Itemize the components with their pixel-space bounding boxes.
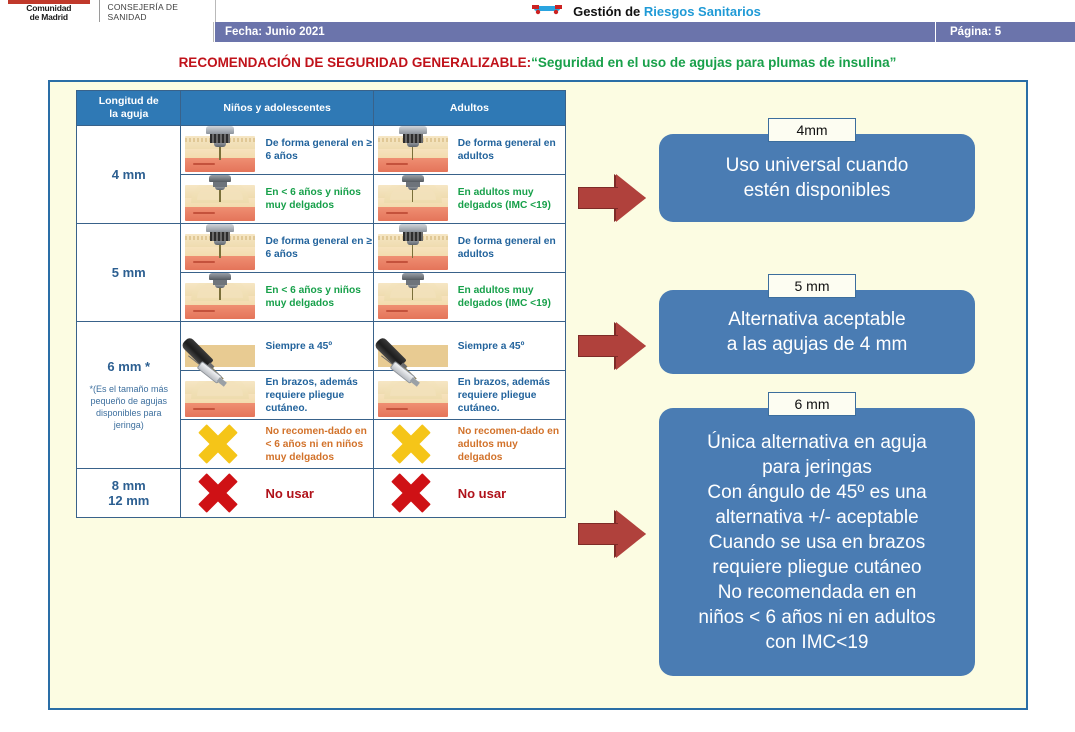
pen-angled-45-icon <box>181 322 259 370</box>
title-main: Gestión de <box>573 4 644 19</box>
needle-length-label-line-2: 12 mm <box>77 493 180 508</box>
content-panel: Longitud de la aguja Niños y adolescente… <box>48 80 1028 710</box>
column-header-line-2: la aguja <box>109 108 148 120</box>
cell-text: No usar <box>265 487 313 500</box>
x-mark-yellow-icon <box>374 420 452 468</box>
syringe-pinch-icon <box>374 371 452 419</box>
organization-block: Gerencia Asistencial de Atención Primari… <box>99 0 215 22</box>
callout-line: alternativa +/- aceptable <box>698 505 935 530</box>
cell-text: En < 6 años y niños muy delgados <box>265 284 372 310</box>
cell-text: No usar <box>458 487 506 500</box>
needle-straight-icon <box>181 224 259 272</box>
logo-line-2: de Madrid <box>8 13 90 22</box>
cell-text: De forma general en ≥ 6 años <box>265 137 372 163</box>
header-title-wrap: Gestión de Riesgos Sanitarios <box>215 0 1075 22</box>
org-line-3: CONSEJERÍA DE SANIDAD <box>108 2 215 22</box>
cell-children-8-12mm-do-not-use: No usar <box>181 469 373 518</box>
slide-title-green: “Seguridad en el uso de agujas para plum… <box>531 55 896 70</box>
callout-tag-6mm: 6 mm <box>768 392 856 416</box>
column-header-children: Niños y adolescentes <box>181 91 373 126</box>
cell-text: En brazos, además requiere pliegue cután… <box>265 376 372 415</box>
cell-text: No recomen-dado en adultos muy delgados <box>458 425 565 464</box>
stretcher-icon <box>530 1 564 22</box>
header-underline <box>0 42 1075 46</box>
header-meta-bar: Fecha: Junio 2021 Página: 5 <box>0 22 1075 42</box>
callout-tag-5mm: 5 mm <box>768 274 856 298</box>
cell-text: De forma general en adultos <box>458 235 565 261</box>
callout-line: niños < 6 años ni en adultos <box>698 605 935 630</box>
pen-angled-45-icon <box>374 322 452 370</box>
table-row: 6 mm * *(Es el tamaño más pequeño de agu… <box>77 322 566 371</box>
x-mark-red-icon <box>374 469 452 517</box>
column-header-line-1: Longitud de <box>99 95 159 107</box>
syringe-pinch-icon <box>181 371 259 419</box>
needle-length-label: 5 mm <box>77 265 180 280</box>
logo-mark: ★ ★ ★ Comunidad de Madrid <box>8 0 90 22</box>
cell-text: En adultos muy delgados (IMC <19) <box>458 284 565 310</box>
cell-adults-5mm-thin: En adultos muy delgados (IMC <19) <box>373 273 565 322</box>
callout-box-5mm: Alternativa aceptable a las agujas de 4 … <box>659 290 975 374</box>
cell-text: En adultos muy delgados (IMC <19) <box>458 186 565 212</box>
needle-pinch-icon <box>374 175 452 223</box>
cell-text: Siempre a 45º <box>265 340 332 353</box>
cell-text: De forma general en adultos <box>458 137 565 163</box>
cell-adults-6mm-arms: En brazos, además requiere pliegue cután… <box>373 371 565 420</box>
callout-line: a las agujas de 4 mm <box>727 332 908 357</box>
arrow-to-callout-6mm <box>578 510 648 558</box>
needle-length-label-line-1: 8 mm <box>77 478 180 493</box>
callout-line: Uso universal cuando <box>726 153 909 178</box>
cell-text: En < 6 años y niños muy delgados <box>265 186 372 212</box>
cell-text: De forma general en ≥ 6 años <box>265 235 372 261</box>
callout-tag-4mm: 4mm <box>768 118 856 142</box>
title-accent: Riesgos Sanitarios <box>644 4 761 19</box>
needle-length-label: 6 mm * <box>77 359 180 374</box>
cell-text: Siempre a 45º <box>458 340 525 353</box>
callout-line: Con ángulo de 45º es una <box>698 480 935 505</box>
cell-children-4mm-thin: En < 6 años y niños muy delgados <box>181 175 373 224</box>
cell-text: En brazos, además requiere pliegue cután… <box>458 376 565 415</box>
document-header: ★ ★ ★ Comunidad de Madrid Gerencia Asist… <box>0 0 1075 46</box>
document-title: Gestión de Riesgos Sanitarios <box>573 4 761 19</box>
cell-adults-4mm-general: De forma general en adultos <box>373 126 565 175</box>
cell-children-4mm-general: De forma general en ≥ 6 años <box>181 126 373 175</box>
x-mark-yellow-icon <box>181 420 259 468</box>
column-header-needle-length: Longitud de la aguja <box>77 91 181 126</box>
cell-adults-6mm-not-recommended: No recomen-dado en adultos muy delgados <box>373 420 565 469</box>
callout-box-4mm: Uso universal cuando estén disponibles <box>659 134 975 222</box>
callout-line: con IMC<19 <box>698 630 935 655</box>
callout-line: No recomendada en en <box>698 580 935 605</box>
needle-pinch-icon <box>181 273 259 321</box>
needle-length-footnote: *(Es el tamaño más pequeño de agujas dis… <box>77 383 180 431</box>
slide-title-red: RECOMENDACIÓN DE SEGURIDAD GENERALIZABLE… <box>179 55 532 70</box>
cell-children-6mm-arms: En brazos, además requiere pliegue cután… <box>181 371 373 420</box>
cell-adults-4mm-thin: En adultos muy delgados (IMC <19) <box>373 175 565 224</box>
header-date: Fecha: Junio 2021 <box>214 22 935 42</box>
needle-straight-icon <box>374 224 452 272</box>
column-header-adults: Adultos <box>373 91 565 126</box>
table-header-row: Longitud de la aguja Niños y adolescente… <box>77 91 566 126</box>
needle-length-cell-6mm: 6 mm * *(Es el tamaño más pequeño de agu… <box>77 322 181 469</box>
callout-line: Única alternativa en aguja <box>698 430 935 455</box>
needle-straight-icon <box>181 126 259 174</box>
cell-children-5mm-thin: En < 6 años y niños muy delgados <box>181 273 373 322</box>
cell-children-6mm-not-recommended: No recomen-dado en < 6 años ni en niños … <box>181 420 373 469</box>
needle-length-cell-4mm: 4 mm <box>77 126 181 224</box>
callout-line: para jeringas <box>698 455 935 480</box>
needle-length-cell-5mm: 5 mm <box>77 224 181 322</box>
callout-line: Alternativa aceptable <box>727 307 908 332</box>
table-row: 5 mm De forma general en ≥ 6 años <box>77 224 566 273</box>
slide-title: RECOMENDACIÓN DE SEGURIDAD GENERALIZABLE… <box>0 50 1075 74</box>
arrow-to-callout-4mm <box>578 174 648 222</box>
needle-straight-icon <box>374 126 452 174</box>
cell-adults-5mm-general: De forma general en adultos <box>373 224 565 273</box>
needle-length-cell-8-12mm: 8 mm 12 mm <box>77 469 181 518</box>
cell-text: No recomen-dado en < 6 años ni en niños … <box>265 425 372 464</box>
callout-line: estén disponibles <box>726 178 909 203</box>
needle-pinch-icon <box>374 273 452 321</box>
cell-adults-8-12mm-do-not-use: No usar <box>373 469 565 518</box>
table-row: 8 mm 12 mm No usar <box>77 469 566 518</box>
callout-line: requiere pliegue cutáneo <box>698 555 935 580</box>
x-mark-red-icon <box>181 469 259 517</box>
header-page-number: Página: 5 <box>935 22 1075 42</box>
needle-length-label: 4 mm <box>77 167 180 182</box>
callout-line: Cuando se usa en brazos <box>698 530 935 555</box>
needle-length-table: Longitud de la aguja Niños y adolescente… <box>76 90 566 518</box>
arrow-to-callout-5mm <box>578 322 648 370</box>
callout-box-6mm: Única alternativa en aguja para jeringas… <box>659 408 975 676</box>
header-bar-logo-segment <box>0 22 214 42</box>
table-row: 4 mm De forma general en ≥ 6 años <box>77 126 566 175</box>
comunidad-de-madrid-logo: ★ ★ ★ Comunidad de Madrid Gerencia Asist… <box>0 0 214 22</box>
needle-pinch-icon <box>181 175 259 223</box>
cell-children-5mm-general: De forma general en ≥ 6 años <box>181 224 373 273</box>
